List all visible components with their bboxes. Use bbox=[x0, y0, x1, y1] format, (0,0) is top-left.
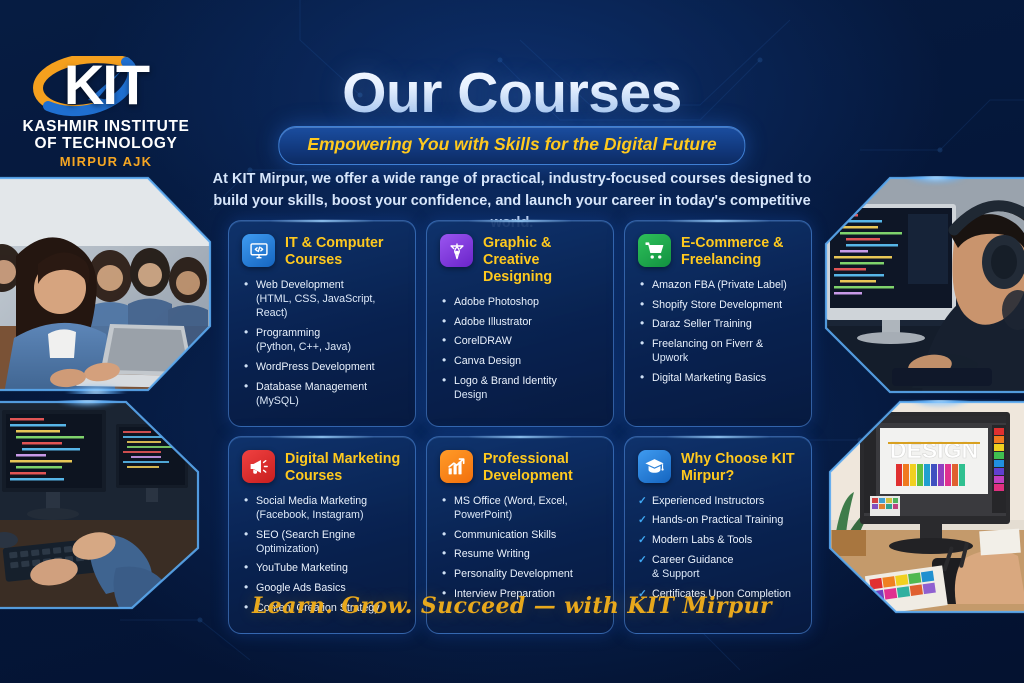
brand-logo: KIT KASHMIR INSTITUTE OF TECHNOLOGY MIRP… bbox=[22, 52, 190, 169]
course-card-it-computer-courses[interactable]: IT & Computer CoursesWeb Development(HTM… bbox=[228, 220, 416, 427]
list-item-label: CorelDRAW bbox=[454, 335, 512, 347]
list-item: Daraz Seller Training bbox=[638, 317, 799, 331]
pen-tool-icon bbox=[440, 234, 473, 267]
list-item-label: Canva Design bbox=[454, 355, 521, 367]
card-item-list: MS Office (Word, Excel,PowerPoint)Commun… bbox=[440, 494, 601, 601]
list-item-label: Adobe Illustrator bbox=[454, 316, 532, 328]
list-item-label: Digital Marketing Basics bbox=[652, 372, 766, 384]
card-header: IT & Computer Courses bbox=[242, 234, 403, 269]
list-item: Database Management(MySQL) bbox=[242, 380, 403, 408]
logo-line-2: OF TECHNOLOGY bbox=[22, 135, 190, 152]
card-title: Digital Marketing Courses bbox=[285, 450, 403, 485]
list-item-label: Experienced Instructors bbox=[652, 495, 764, 507]
list-item-label: Freelancing on Fiverr & bbox=[652, 338, 763, 350]
card-header: Professional Development bbox=[440, 450, 601, 485]
list-item-sublabel: (HTML, CSS, JavaScript, React) bbox=[256, 292, 403, 320]
logo-letters: KIT bbox=[22, 52, 190, 118]
list-item-label: Adobe Photoshop bbox=[454, 296, 539, 308]
list-item-sublabel: (Facebook, Instagram) bbox=[256, 508, 403, 522]
list-item: Hands-on Practical Training bbox=[638, 513, 799, 527]
list-item-label: Logo & Brand Identity bbox=[454, 375, 557, 387]
list-item-sublabel: Upwork bbox=[652, 351, 799, 365]
poster-canvas: DESIGN bbox=[0, 0, 1024, 683]
card-title: Graphic & Creative Designing bbox=[483, 234, 601, 286]
list-item: Social Media Marketing(Facebook, Instagr… bbox=[242, 494, 403, 522]
list-item: Canva Design bbox=[440, 354, 601, 368]
list-item-label: Amazon FBA (Private Label) bbox=[652, 279, 787, 291]
card-header: Graphic & Creative Designing bbox=[440, 234, 601, 286]
photo-hands-on-keyboard-coding bbox=[0, 400, 220, 615]
list-item: Adobe Photoshop bbox=[440, 295, 601, 309]
card-item-list: Adobe PhotoshopAdobe IllustratorCorelDRA… bbox=[440, 295, 601, 402]
list-item-label: MS Office (Word, Excel, bbox=[454, 495, 568, 507]
list-item: Adobe Illustrator bbox=[440, 315, 601, 329]
list-item: Career Guidance& Support bbox=[638, 553, 799, 581]
list-item: YouTube Marketing bbox=[242, 561, 403, 575]
card-title: IT & Computer Courses bbox=[285, 234, 403, 269]
list-item: SEO (Search EngineOptimization) bbox=[242, 528, 403, 556]
list-item: Amazon FBA (Private Label) bbox=[638, 278, 799, 292]
logo-line-3: MIRPUR AJK bbox=[22, 154, 190, 169]
graduation-cap-icon bbox=[638, 450, 671, 483]
list-item: Modern Labs & Tools bbox=[638, 533, 799, 547]
list-item-label: YouTube Marketing bbox=[256, 562, 348, 574]
card-header: E-Commerce & Freelancing bbox=[638, 234, 799, 269]
subtitle-ribbon: Empowering You with Skills for the Digit… bbox=[278, 126, 745, 165]
list-item-sublabel: Optimization) bbox=[256, 542, 403, 556]
list-item: WordPress Development bbox=[242, 360, 403, 374]
list-item: Experienced Instructors bbox=[638, 494, 799, 508]
list-item-label: Personality Development bbox=[454, 568, 573, 580]
list-item-label: WordPress Development bbox=[256, 361, 375, 373]
list-item-label: Resume Writing bbox=[454, 548, 530, 560]
list-item-sublabel: (Python, C++, Java) bbox=[256, 340, 403, 354]
list-item-label: Shopify Store Development bbox=[652, 299, 782, 311]
list-item: Communication Skills bbox=[440, 528, 601, 542]
list-item: Digital Marketing Basics bbox=[638, 371, 799, 385]
card-header: Why Choose KIT Mirpur? bbox=[638, 450, 799, 485]
list-item-label: Hands-on Practical Training bbox=[652, 514, 783, 526]
list-item-sublabel: Design bbox=[454, 388, 601, 402]
list-item: Programming(Python, C++, Java) bbox=[242, 326, 403, 354]
list-item-label: Career Guidance bbox=[652, 554, 733, 566]
card-item-list: Experienced InstructorsHands-on Practica… bbox=[638, 494, 799, 601]
list-item-label: SEO (Search Engine bbox=[256, 529, 355, 541]
photo-developer-with-headphones bbox=[804, 176, 1024, 394]
list-item-sublabel: (MySQL) bbox=[256, 394, 403, 408]
course-card-graphic-creative-designing[interactable]: Graphic & Creative DesigningAdobe Photos… bbox=[426, 220, 614, 427]
list-item-label: Social Media Marketing bbox=[256, 495, 367, 507]
list-item-label: Database Management bbox=[256, 381, 367, 393]
course-cards-grid: IT & Computer CoursesWeb Development(HTM… bbox=[228, 220, 816, 634]
footer-tagline: Learn. Grow. Succeed — with KIT Mirpur bbox=[0, 593, 1024, 619]
list-item-sublabel: PowerPoint) bbox=[454, 508, 601, 522]
photo-designer-at-workstation: DESIGN bbox=[804, 400, 1024, 615]
growth-chart-icon bbox=[440, 450, 473, 483]
list-item: Freelancing on Fiverr &Upwork bbox=[638, 337, 799, 365]
list-item: Resume Writing bbox=[440, 547, 601, 561]
card-title: E-Commerce & Freelancing bbox=[681, 234, 799, 269]
list-item-label: Communication Skills bbox=[454, 529, 556, 541]
card-item-list: Amazon FBA (Private Label)Shopify Store … bbox=[638, 278, 799, 385]
svg-text:DESIGN: DESIGN bbox=[890, 437, 978, 463]
list-item-label: Web Development bbox=[256, 279, 344, 291]
card-title: Why Choose KIT Mirpur? bbox=[681, 450, 799, 485]
list-item: MS Office (Word, Excel,PowerPoint) bbox=[440, 494, 601, 522]
logo-mark: KIT bbox=[22, 52, 190, 118]
code-monitor-icon bbox=[242, 234, 275, 267]
list-item: Web Development(HTML, CSS, JavaScript, R… bbox=[242, 278, 403, 321]
megaphone-icon bbox=[242, 450, 275, 483]
list-item-label: Modern Labs & Tools bbox=[652, 534, 752, 546]
list-item: CorelDRAW bbox=[440, 334, 601, 348]
shopping-cart-icon bbox=[638, 234, 671, 267]
list-item-label: Programming bbox=[256, 327, 320, 339]
list-item: Shopify Store Development bbox=[638, 298, 799, 312]
list-item: Personality Development bbox=[440, 567, 601, 581]
card-title: Professional Development bbox=[483, 450, 601, 485]
photo-students-with-laptops bbox=[0, 176, 220, 394]
course-card-ecommerce-freelancing[interactable]: E-Commerce & FreelancingAmazon FBA (Priv… bbox=[624, 220, 812, 427]
list-item-label: Daraz Seller Training bbox=[652, 318, 752, 330]
list-item: Logo & Brand IdentityDesign bbox=[440, 374, 601, 402]
card-header: Digital Marketing Courses bbox=[242, 450, 403, 485]
card-item-list: Web Development(HTML, CSS, JavaScript, R… bbox=[242, 278, 403, 408]
list-item-sublabel: & Support bbox=[652, 567, 799, 581]
